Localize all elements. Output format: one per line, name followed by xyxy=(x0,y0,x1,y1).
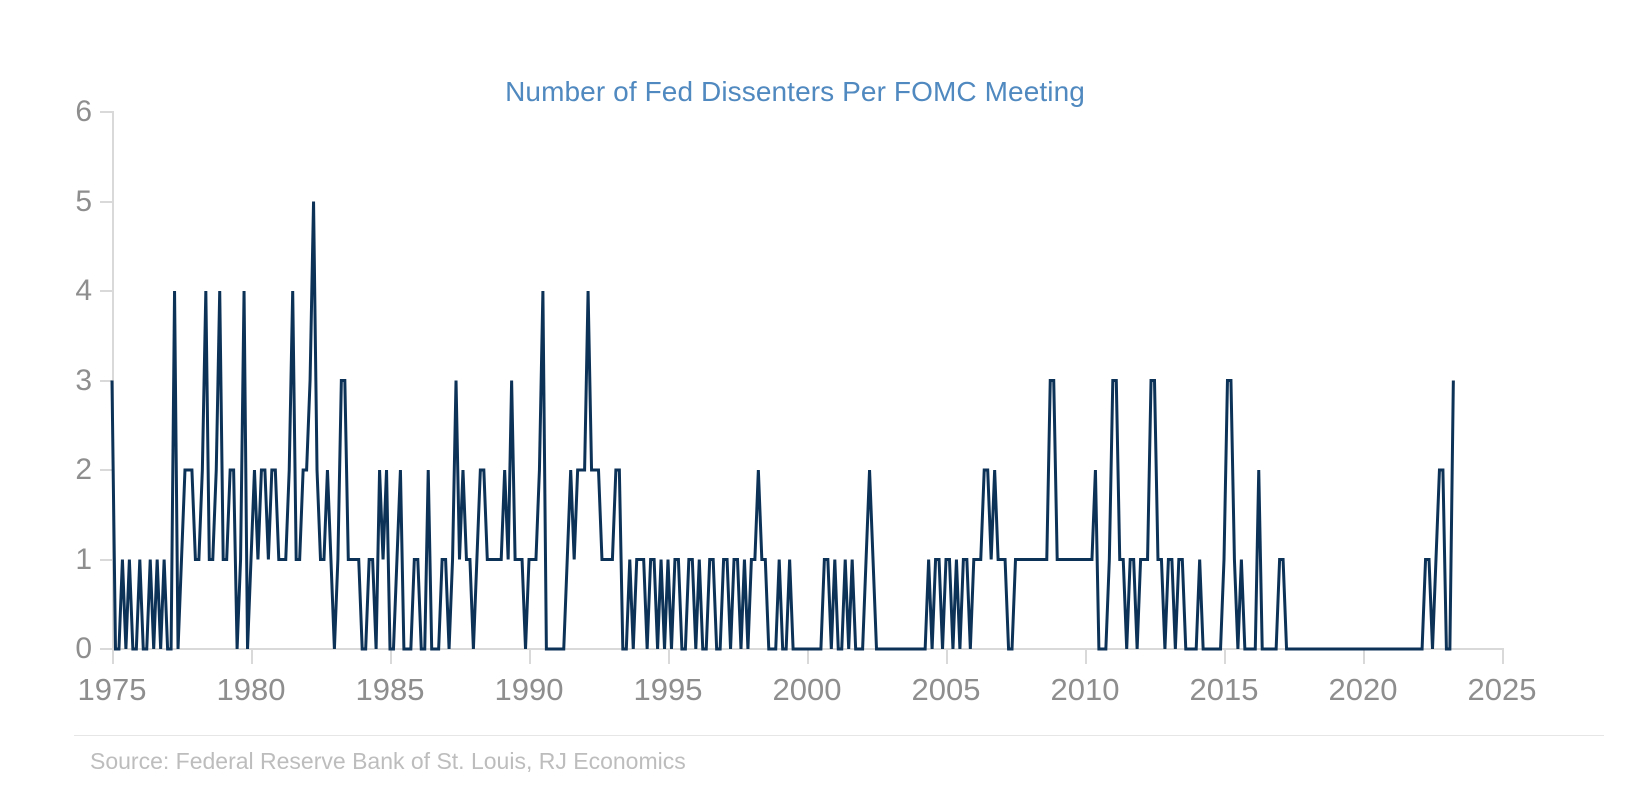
x-axis-tick-label: 1985 xyxy=(325,672,455,708)
y-axis-tick-label: 4 xyxy=(52,276,92,306)
y-axis-tick-label: 3 xyxy=(52,366,92,396)
source-note: Source: Federal Reserve Bank of St. Loui… xyxy=(90,748,686,775)
x-axis-tick-mark xyxy=(1363,650,1365,664)
x-axis-tick-label: 1995 xyxy=(603,672,733,708)
x-axis-tick-label: 2000 xyxy=(742,672,872,708)
x-axis-tick-mark xyxy=(1085,650,1087,664)
x-axis-tick-mark xyxy=(946,650,948,664)
x-axis-tick-label: 2020 xyxy=(1298,672,1428,708)
x-axis-tick-mark xyxy=(807,650,809,664)
dissenters-line xyxy=(112,202,1453,650)
chart-canvas: Number of Fed Dissenters Per FOMC Meetin… xyxy=(0,0,1644,806)
footer-divider xyxy=(74,735,1604,736)
x-axis-tick-mark xyxy=(668,650,670,664)
x-axis-tick-label: 1990 xyxy=(464,672,594,708)
data-series-svg xyxy=(112,112,1502,649)
y-axis-tick-label: 5 xyxy=(52,187,92,217)
x-axis-tick-mark xyxy=(1502,650,1504,664)
x-axis-tick-label: 2010 xyxy=(1020,672,1150,708)
x-axis-tick-label: 2005 xyxy=(881,672,1011,708)
x-axis-tick-mark xyxy=(251,650,253,664)
x-axis-tick-label: 2025 xyxy=(1437,672,1567,708)
x-axis-tick-label: 1980 xyxy=(186,672,316,708)
x-axis-tick-label: 1975 xyxy=(47,672,177,708)
x-axis-tick-mark xyxy=(529,650,531,664)
x-axis-tick-mark xyxy=(112,650,114,664)
x-axis-tick-mark xyxy=(390,650,392,664)
y-axis-tick-label: 6 xyxy=(52,97,92,127)
x-axis-tick-label: 2015 xyxy=(1159,672,1289,708)
y-axis-tick-label: 1 xyxy=(52,545,92,575)
plot-area xyxy=(112,112,1502,649)
y-axis-tick-label: 0 xyxy=(52,634,92,664)
y-axis-tick-label: 2 xyxy=(52,455,92,485)
x-axis-tick-mark xyxy=(1224,650,1226,664)
